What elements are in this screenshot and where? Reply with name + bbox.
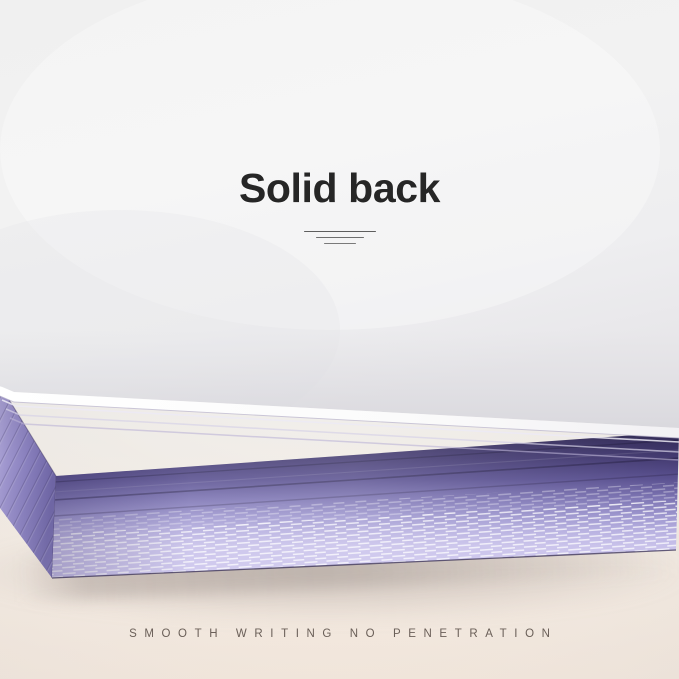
paper-stack-top-sheet [0,0,679,460]
paper-stack-artwork [0,0,679,679]
product-image-scene: Solid back SMOOTH WRITING NO PENETRATION [0,0,679,679]
paper-stack [0,0,679,679]
